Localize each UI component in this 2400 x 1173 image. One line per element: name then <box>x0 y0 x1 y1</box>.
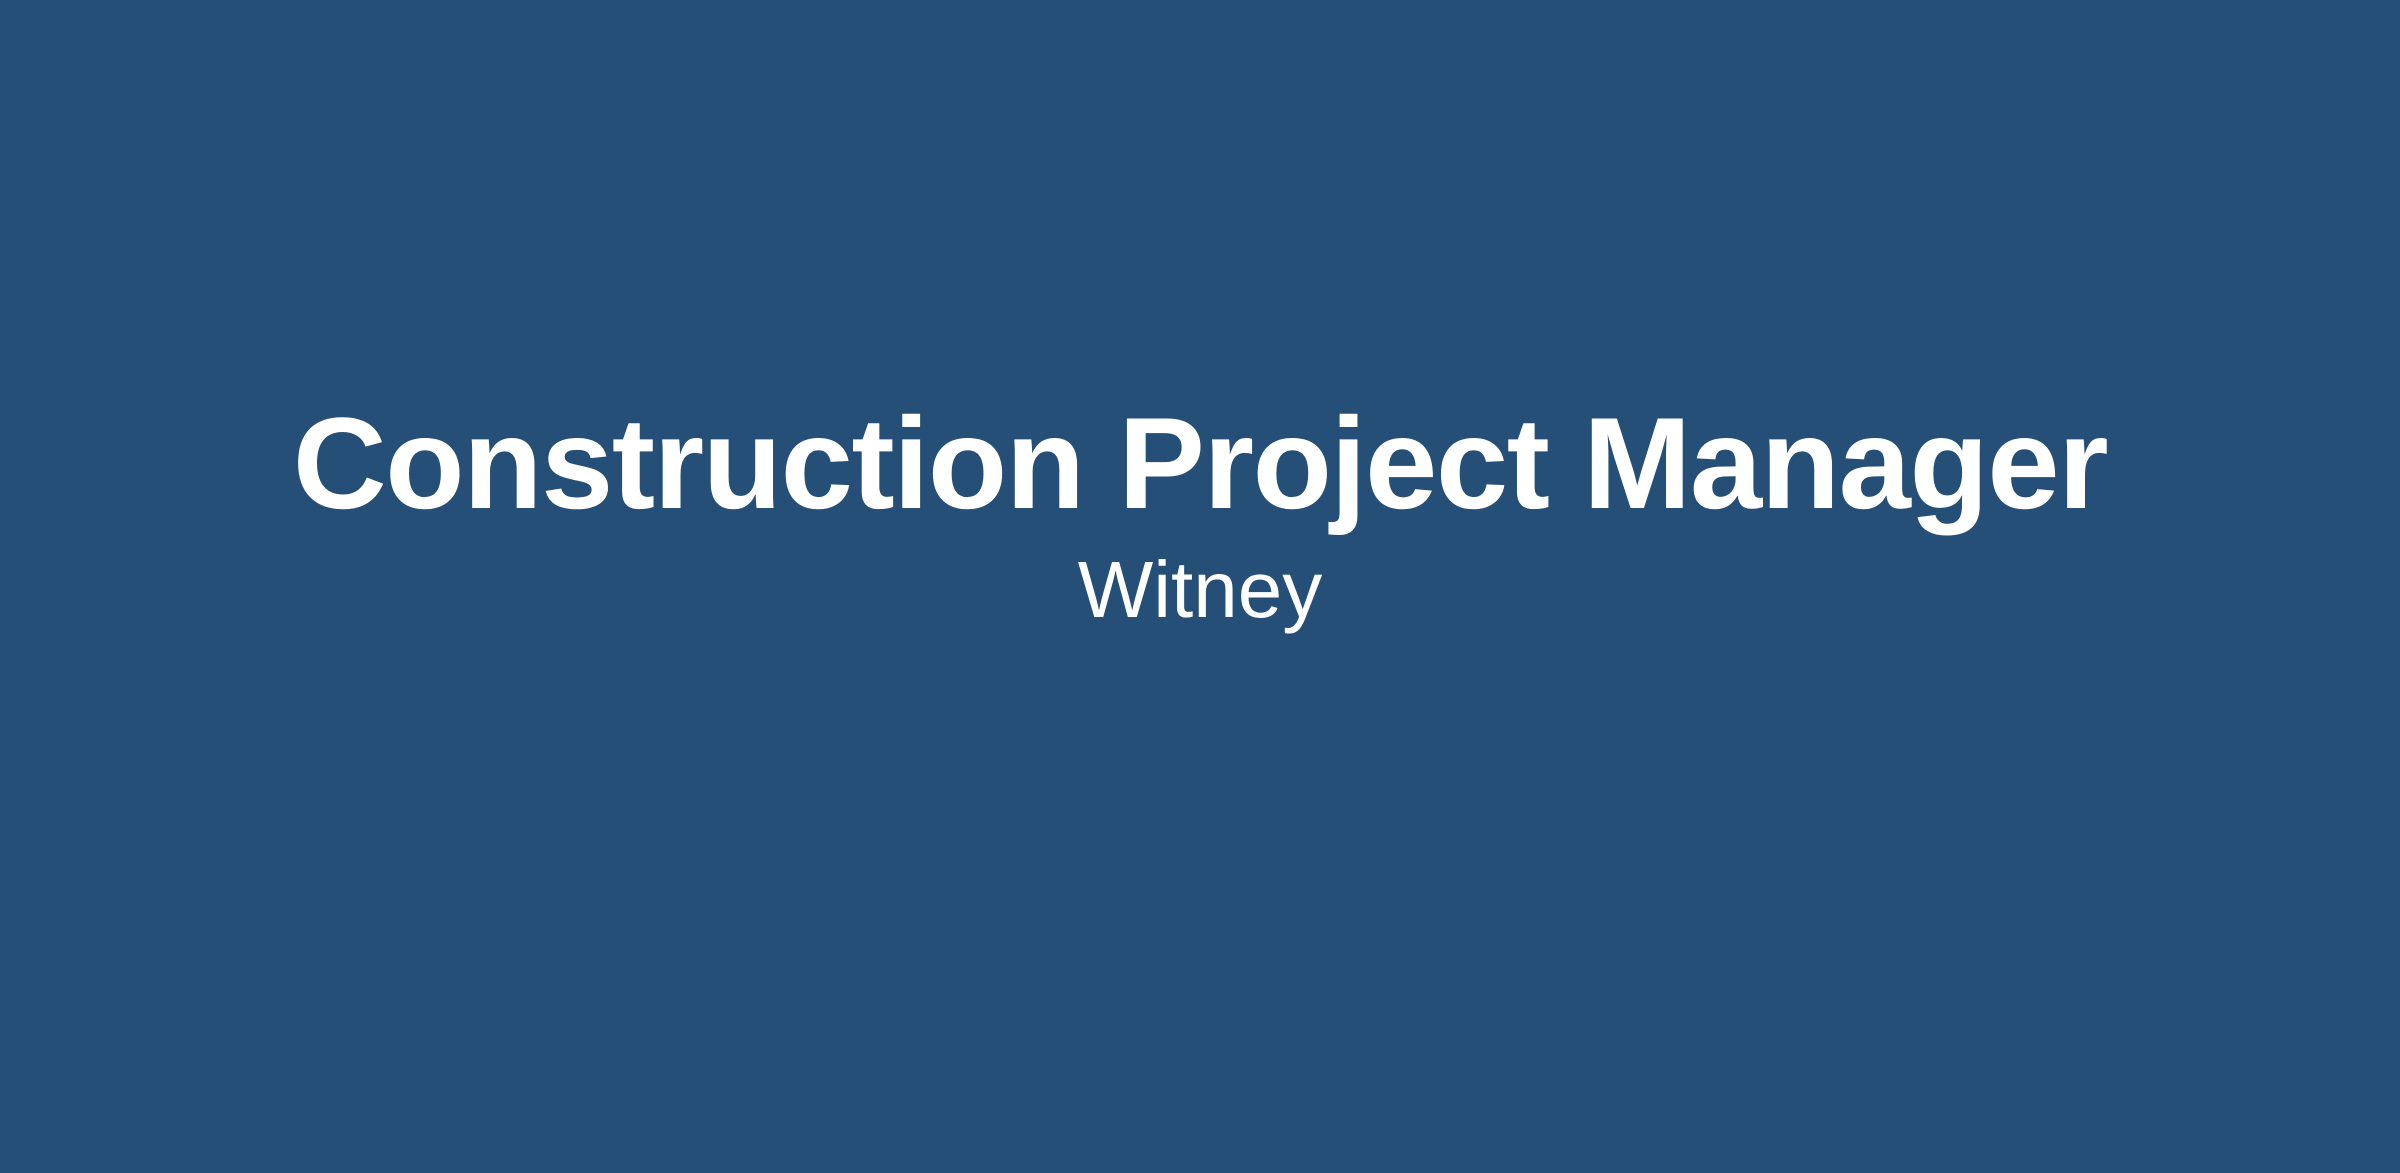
location-subtitle: Witney <box>1078 550 1323 630</box>
job-listing-banner: Construction Project Manager Witney <box>0 0 2400 1173</box>
hero-content: Construction Project Manager Witney <box>0 398 2400 630</box>
page-title: Construction Project Manager <box>293 398 2107 528</box>
